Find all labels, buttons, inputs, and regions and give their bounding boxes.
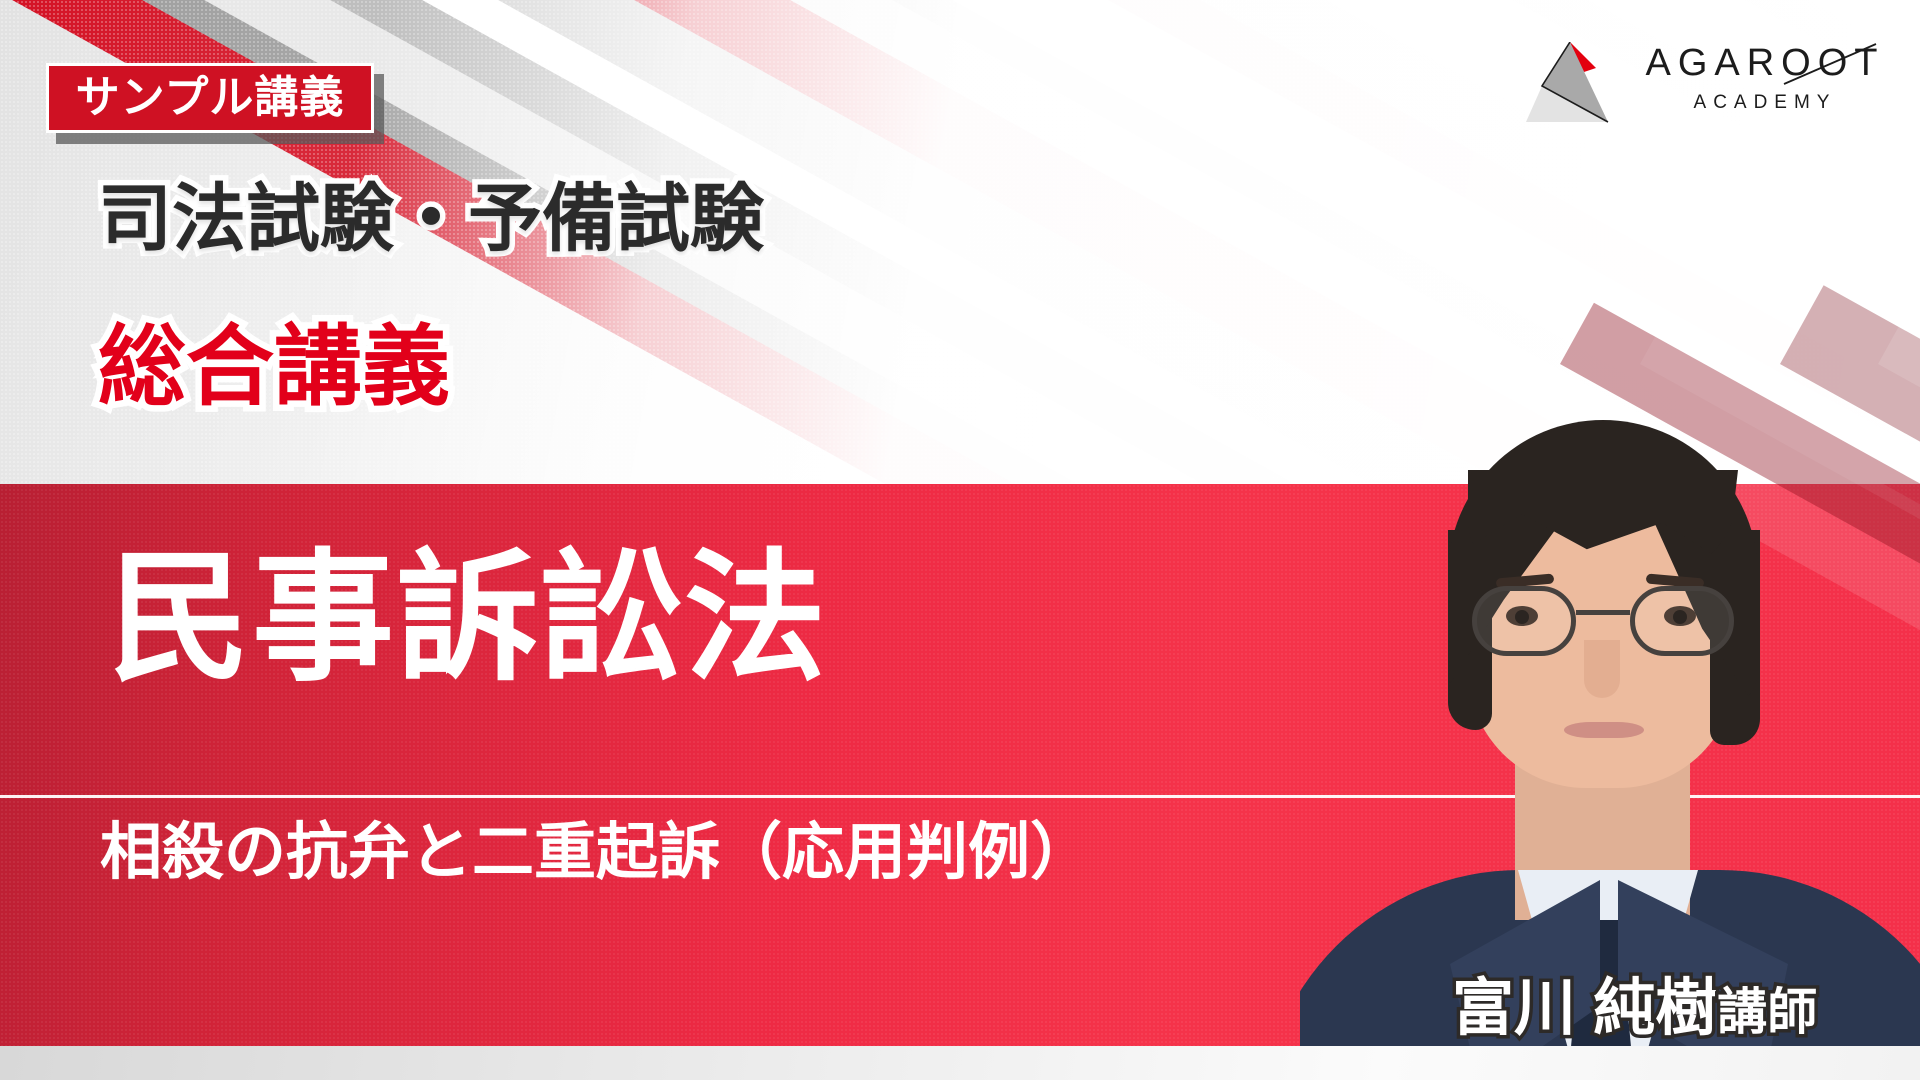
subject-title: 民事訴訟法 [108, 548, 828, 690]
agaroot-logo-wordmark: AGAROOT ACADEMY [1640, 44, 1890, 112]
glasses-lens-right [1630, 586, 1734, 656]
agaroot-triangle-mark [1520, 42, 1620, 124]
course-type-headline: 総合講義 [98, 318, 450, 417]
glasses-lens-left [1472, 586, 1576, 656]
lecture-subtitle: 相殺の抗弁と二重起訴（応用判例） [100, 822, 1092, 884]
instructor-portrait [1300, 280, 1920, 1080]
sample-lecture-badge: サンプル講義 [46, 63, 374, 133]
lecture-thumbnail-slide: サンプル講義 AGAROOT ACADEMY 司法試験・予備試験 総合講義 [0, 0, 1920, 1080]
sample-lecture-badge-label: サンプル講義 [76, 76, 345, 120]
instructor-title-suffix: 講師 [1717, 984, 1817, 1040]
exam-category-headline: 司法試験・予備試験 [98, 178, 764, 261]
instructor-name-text: 富川 純樹 [1452, 974, 1717, 1043]
portrait-nose [1584, 640, 1620, 698]
agaroot-brand-text: AGAROOT [1645, 44, 1884, 82]
bottom-strip [0, 1046, 1920, 1080]
glasses-bridge [1576, 610, 1630, 615]
agaroot-academy-label: ACADEMY [1640, 93, 1890, 112]
agaroot-logo-slash-icon [1784, 40, 1876, 88]
portrait-mouth [1564, 722, 1644, 738]
agaroot-logo[interactable]: AGAROOT ACADEMY [1520, 38, 1890, 126]
instructor-name: 富川 純樹講師 [1452, 978, 1817, 1040]
